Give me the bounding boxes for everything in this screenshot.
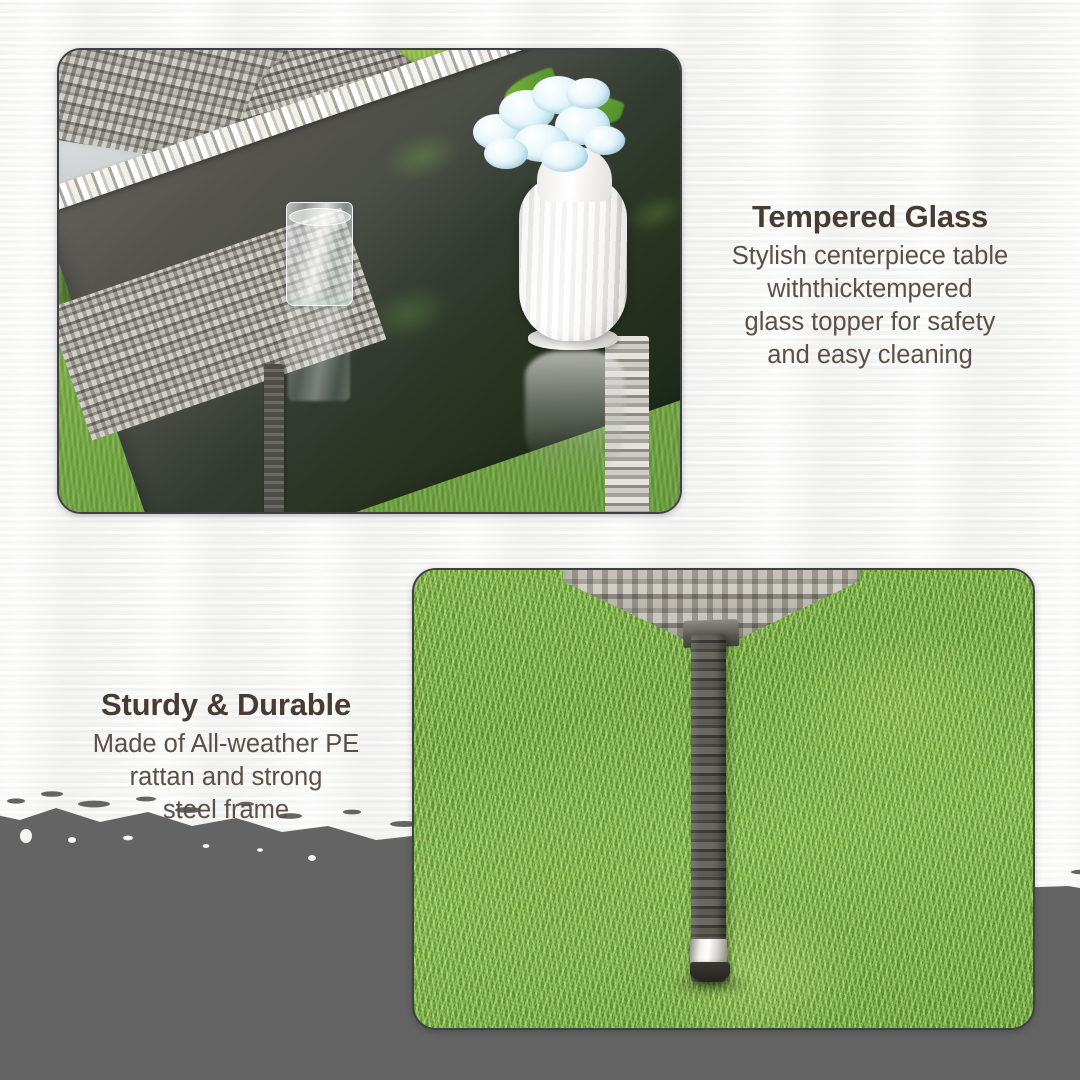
description-line: steel frame (30, 794, 422, 827)
feature-description-tempered-glass: Stylish centerpiece table withthicktempe… (694, 240, 1046, 373)
rattan-leg-photo (412, 568, 1035, 1030)
hydrangea-bouquet (469, 68, 655, 188)
description-line: Stylish centerpiece table (694, 240, 1046, 273)
description-line: Made of All-weather PE (30, 728, 422, 761)
description-line: rattan and strong (30, 761, 422, 794)
table-leg-left (264, 364, 284, 512)
infographic-canvas: Tempered Glass Stylish centerpiece table… (0, 0, 1080, 1080)
feature-description-sturdy-durable: Made of All-weather PE rattan and strong… (30, 728, 422, 827)
description-line: glass topper for safety (694, 306, 1046, 339)
feature-text-tempered-glass: Tempered Glass Stylish centerpiece table… (694, 198, 1046, 372)
description-line: withthicktempered (694, 273, 1046, 306)
feature-title-sturdy-durable: Sturdy & Durable (30, 686, 422, 724)
feature-title-tempered-glass: Tempered Glass (694, 198, 1046, 236)
chrome-ferrule (690, 939, 727, 965)
glass-tabletop-photo (57, 48, 682, 514)
description-line: and easy cleaning (694, 339, 1046, 372)
vase-reflection (525, 350, 624, 479)
tumbler-reflection (288, 304, 350, 401)
drinking-glass (286, 202, 353, 306)
leg-foot-cap (690, 962, 730, 982)
feature-text-sturdy-durable: Sturdy & Durable Made of All-weather PE … (30, 686, 422, 827)
steel-frame-leg (691, 634, 726, 982)
